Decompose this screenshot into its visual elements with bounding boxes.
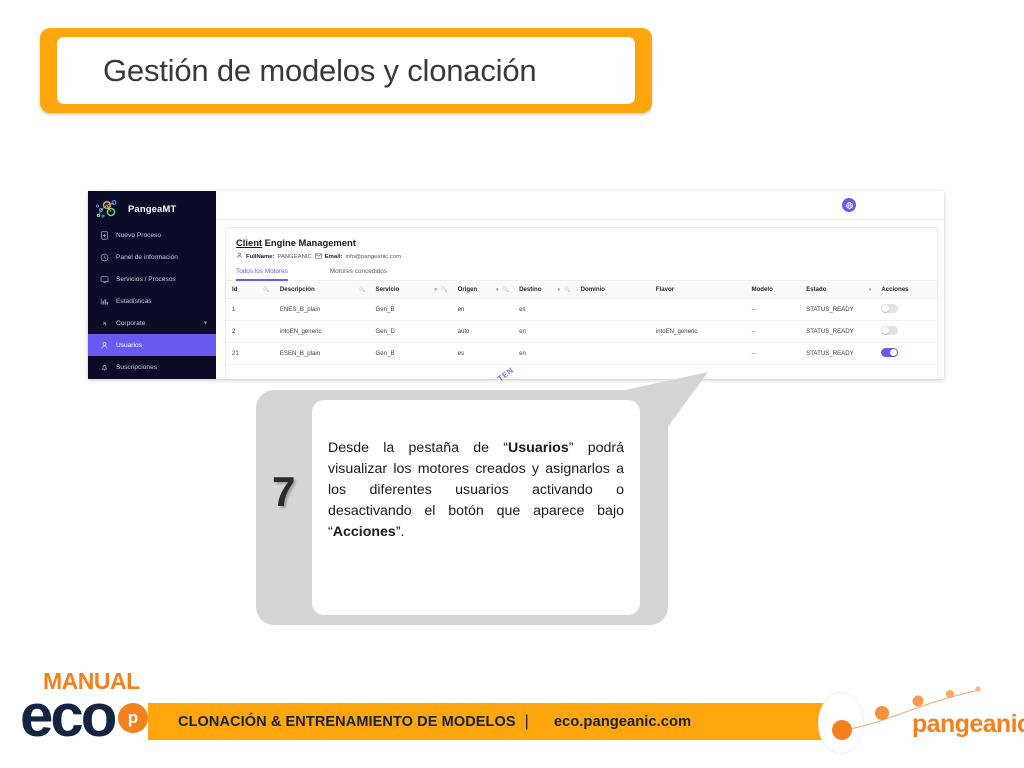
eco-word: eco <box>20 686 114 746</box>
person-icon <box>236 252 243 261</box>
callout-bubble: 7 Desde la pestaña de “Usuarios” podrá v… <box>256 370 716 625</box>
sidebar-item-label: Corporate <box>116 320 145 327</box>
search-icon[interactable]: 🔍 <box>263 287 269 293</box>
panel-title: Client Engine Management <box>236 237 927 248</box>
accion-toggle[interactable] <box>881 326 898 335</box>
app-brand: PangeaMT <box>88 194 216 224</box>
col-estado[interactable]: Estado▾ <box>800 281 875 299</box>
cell-estado: STATUS_READY <box>800 343 875 365</box>
fullname-value: PANGEANIC <box>277 254 311 260</box>
col-origen[interactable]: Origen▾🔍 <box>452 281 514 299</box>
cell-servicio: Gen_B <box>370 299 452 321</box>
col-flavor[interactable]: Flavor <box>650 281 746 299</box>
col-descripcion[interactable]: Descripción🔍 <box>274 281 370 299</box>
sidebar-item-label: Nuevo Proceso <box>116 232 161 239</box>
panel-title-rest: Engine Management <box>262 237 356 248</box>
footer-url[interactable]: eco.pangeanic.com <box>554 714 691 730</box>
cell-acciones <box>875 299 937 321</box>
cell-destino: en <box>513 321 575 343</box>
col-dominio[interactable]: Dominio <box>575 281 650 299</box>
cell-modelo: -- <box>746 343 801 365</box>
sidebar-item-servicios-procesos[interactable]: Servicios / Procesos <box>88 268 216 290</box>
footer-separator: | <box>525 713 529 731</box>
col-destino[interactable]: Destino▾🔍 <box>513 281 575 299</box>
app-main: Client Engine Management FullName: PANGE… <box>216 191 944 379</box>
cell-descripcion: ENES_B_plain <box>274 299 370 321</box>
network-nodes-icon <box>92 196 126 222</box>
cell-modelo: -- <box>746 299 801 321</box>
col-label: Id <box>232 286 237 293</box>
sidebar-item-label: Panel de información <box>116 254 178 261</box>
filter-icon[interactable]: ▾ <box>869 287 872 293</box>
pangeanic-p-badge-icon: p <box>118 703 148 733</box>
cell-flavor <box>650 299 746 321</box>
panel-title-underlined: Client <box>236 237 262 248</box>
file-plus-icon <box>98 229 110 241</box>
sort-icon[interactable]: ▾ <box>496 287 499 293</box>
table-row[interactable]: 1 ENES_B_plain Gen_B en es -- STATUS_REA… <box>226 299 937 321</box>
email-value: info@pangeanic.com <box>345 254 400 260</box>
search-icon[interactable]: 🔍 <box>503 287 509 293</box>
col-acciones: Acciones <box>875 281 937 299</box>
search-icon[interactable]: 🔍 <box>359 287 365 293</box>
col-label: Acciones <box>881 286 908 293</box>
sidebar-item-corporate[interactable]: Corporate ▾ <box>88 312 216 334</box>
accion-toggle[interactable] <box>881 304 898 313</box>
footer-banner-text: CLONACIÓN & ENTRENAMIENTO DE MODELOS <box>178 714 516 730</box>
col-id[interactable]: Id🔍 <box>226 281 274 299</box>
cell-dominio <box>575 299 650 321</box>
table-row[interactable]: 21 ESEN_B_plain Gen_B es en -- STATUS_RE… <box>226 343 937 365</box>
cell-modelo: -- <box>746 321 801 343</box>
table-header-row: Id🔍 Descripción🔍 Servicio▾🔍 Origen▾🔍 Des… <box>226 281 937 299</box>
engines-table: Id🔍 Descripción🔍 Servicio▾🔍 Origen▾🔍 Des… <box>226 281 937 365</box>
title-banner: Gestión de modelos y clonación <box>40 28 652 113</box>
monitor-icon <box>98 273 110 285</box>
fullname-label: FullName: <box>246 254 274 260</box>
cell-acciones <box>875 321 937 343</box>
callout-text: Desde la pestaña de “Usuarios” podrá vis… <box>328 438 624 543</box>
accion-toggle[interactable] <box>881 348 898 357</box>
cell-dominio <box>575 343 650 365</box>
cell-estado: STATUS_READY <box>800 321 875 343</box>
col-servicio[interactable]: Servicio▾🔍 <box>370 281 452 299</box>
col-label: Dominio <box>581 286 605 293</box>
page-title: Gestión de modelos y clonación <box>103 53 536 89</box>
cell-id: 21 <box>226 343 274 365</box>
tab-label: Motores concedidos <box>330 268 387 275</box>
cell-flavor <box>650 343 746 365</box>
tab-todos-los-motores[interactable]: Todos los Motores <box>236 268 288 281</box>
bell-icon <box>98 361 110 373</box>
app-screenshot: PangeaMT Nuevo Proceso Panel de informac… <box>88 191 944 379</box>
col-label: Origen <box>458 286 478 293</box>
cell-servicio: Gen_D <box>370 321 452 343</box>
cell-id: 1 <box>226 299 274 321</box>
email-label: Email: <box>325 254 343 260</box>
tab-motores-concedidos[interactable]: Motores concedidos <box>330 268 387 281</box>
callout-step-number: 7 <box>272 468 295 516</box>
col-modelo[interactable]: Modelo <box>746 281 801 299</box>
col-label: Servicio <box>376 286 400 293</box>
sidebar-item-label: Suscripciones <box>116 364 157 371</box>
panel-meta: FullName: PANGEANIC Email: info@pangeani… <box>236 252 927 261</box>
cell-flavor: intoEN_generic <box>650 321 746 343</box>
chevron-down-icon[interactable]: ▾ <box>204 320 207 327</box>
search-icon[interactable]: 🔍 <box>441 287 447 293</box>
mail-icon <box>315 253 322 261</box>
cell-destino: es <box>513 299 575 321</box>
cell-estado: STATUS_READY <box>800 299 875 321</box>
panel-header: Client Engine Management FullName: PANGE… <box>226 228 937 281</box>
sidebar-item-usuarios[interactable]: Usuarios <box>88 334 216 356</box>
link-icon <box>98 317 110 329</box>
search-icon[interactable]: 🔍 <box>564 287 570 293</box>
cell-origen: es <box>452 343 514 365</box>
col-label: Descripción <box>280 286 315 293</box>
app-topbar <box>216 191 944 220</box>
manual-eco-logo: MANUAL eco p <box>20 668 180 758</box>
sidebar-item-suscripciones[interactable]: Suscripciones <box>88 356 216 378</box>
app-brand-label: PangeaMT <box>128 204 176 215</box>
cell-descripcion: ESEN_B_plain <box>274 343 370 365</box>
cell-origen: auto <box>452 321 514 343</box>
pangeanic-word: pangeanic <box>912 710 1024 739</box>
clock-icon <box>98 251 110 263</box>
callout-inner: Desde la pestaña de “Usuarios” podrá vis… <box>312 400 640 615</box>
sidebar-item-nuevo-proceso[interactable]: Nuevo Proceso <box>88 224 216 246</box>
col-label: Destino <box>519 286 541 293</box>
title-banner-inner: Gestión de modelos y clonación <box>57 37 635 104</box>
col-label: Flavor <box>656 286 674 293</box>
sidebar-item-label: Estadísticas <box>116 298 152 305</box>
sort-icon[interactable]: ▾ <box>558 287 561 293</box>
slide-root: Gestión de modelos y clonación <box>0 0 1024 768</box>
pangeanic-logo: pangeanic <box>820 668 1024 758</box>
cell-id: 2 <box>226 321 274 343</box>
user-icon <box>98 339 110 351</box>
cell-descripcion: intoEN_generic <box>274 321 370 343</box>
cell-servicio: Gen_B <box>370 343 452 365</box>
sidebar-item-label: Servicios / Procesos <box>116 276 176 283</box>
cell-dominio <box>575 321 650 343</box>
app-sidebar: PangeaMT Nuevo Proceso Panel de informac… <box>88 191 216 379</box>
tab-label: Todos los Motores <box>236 268 288 275</box>
sidebar-item-estadisticas[interactable]: Estadísticas <box>88 290 216 312</box>
table-row[interactable]: 2 intoEN_generic Gen_D auto en intoEN_ge… <box>226 321 937 343</box>
globe-icon[interactable] <box>842 198 856 212</box>
sort-icon[interactable]: ▾ <box>435 287 438 293</box>
client-engine-panel: Client Engine Management FullName: PANGE… <box>225 227 938 379</box>
bar-chart-icon <box>98 295 110 307</box>
cell-destino: en <box>513 343 575 365</box>
cell-origen: en <box>452 299 514 321</box>
sidebar-item-panel-informacion[interactable]: Panel de información <box>88 246 216 268</box>
col-label: Modelo <box>752 286 773 293</box>
footer-banner: CLONACIÓN & ENTRENAMIENTO DE MODELOS | e… <box>148 703 848 740</box>
col-label: Estado <box>806 286 826 293</box>
cell-acciones <box>875 343 937 365</box>
sidebar-item-label: Usuarios <box>116 342 142 349</box>
